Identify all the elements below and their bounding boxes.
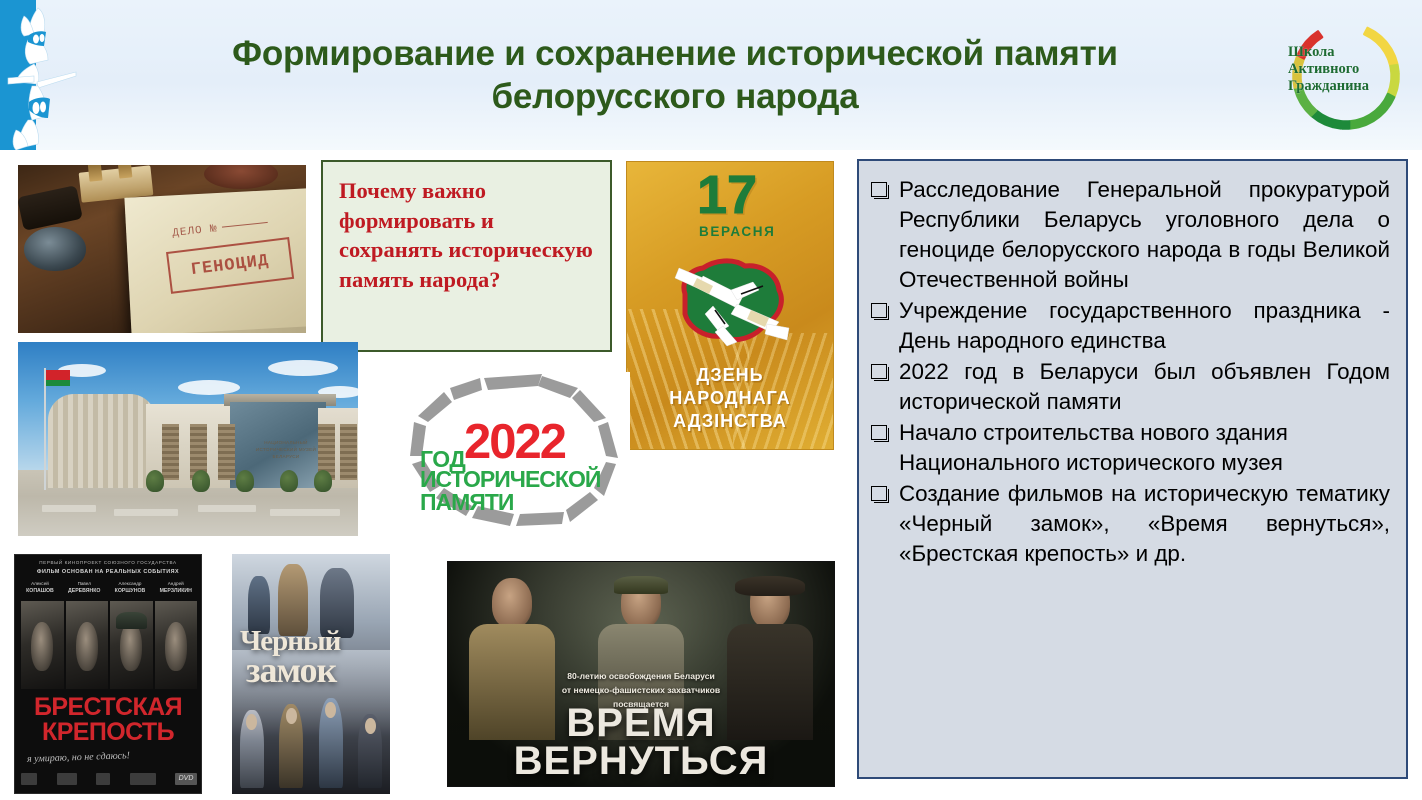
poster-faces <box>21 601 197 689</box>
list-item-text: Расследование Генеральной прокуратурой Р… <box>899 175 1390 295</box>
character-figure <box>240 710 264 788</box>
cloud <box>268 360 338 376</box>
logo-line-2: Активного <box>1288 61 1400 78</box>
tree <box>146 470 164 492</box>
black-castle-poster: Черный замок <box>232 554 390 794</box>
checkbox-bullet-icon <box>871 364 889 382</box>
year-2022-logo: 2022 ГОД ИСТОРИЧЕСКОЙ ПАМЯТИ <box>392 372 630 530</box>
poster-day-number: 17 <box>697 170 757 221</box>
school-active-citizen-logo: Школа Активного Гражданина <box>1280 6 1410 142</box>
logo-text: Школа Активного Гражданина <box>1288 44 1400 95</box>
lamp-shade-prop <box>24 227 86 271</box>
title-line-1: БРЕСТСКАЯ <box>15 695 201 720</box>
genocide-case-photo: ДЕЛО № ГЕНОЦИД <box>18 165 306 333</box>
studio-logo <box>130 773 156 785</box>
plaza-slab <box>198 505 256 512</box>
list-item: Начало строительства нового здания Нацио… <box>871 418 1390 478</box>
tree <box>280 470 298 492</box>
poster-title: ВРЕМЯ ВЕРНУТЬСЯ <box>448 704 834 781</box>
actor-credits: АлексейКОПАШОВ ПавелДЕРЕВЯНКО АлександрК… <box>19 581 199 596</box>
character-figure <box>279 704 303 788</box>
question-text: Почему важно формировать и сохранять ист… <box>339 176 596 295</box>
plaza-slab <box>114 509 178 516</box>
bottom-characters <box>232 702 390 788</box>
logo-line-1: Школа <box>1288 44 1400 61</box>
logo-line-3: Гражданина <box>1288 78 1400 95</box>
actor-credit: ПавелДЕРЕВЯНКО <box>68 581 100 596</box>
belarus-map-with-storks-icon <box>667 248 795 354</box>
flagpole <box>44 368 46 490</box>
face-with-cap <box>110 601 153 689</box>
year-number: 2022 <box>464 418 565 467</box>
list-item: Создание фильмов на историческую тематик… <box>871 479 1390 569</box>
plaza-slab <box>270 509 340 516</box>
title-line-1: ВРЕМЯ <box>448 704 834 742</box>
list-item-text: 2022 год в Беларуси был объявлен Годом и… <box>899 357 1390 417</box>
wide-hat-icon <box>735 576 805 596</box>
checkbox-bullet-icon <box>871 303 889 321</box>
actor-credit: АлександрКОРШУНОВ <box>115 581 146 596</box>
list-item: 2022 год в Беларуси был объявлен Годом и… <box>871 357 1390 417</box>
stork-icon <box>4 2 84 150</box>
caption-line-2: НАРОДНАГА <box>627 387 833 410</box>
time-to-return-poster: 80-летию освобождения Беларуси от немецк… <box>447 561 835 787</box>
poster-tagline-top: ПЕРВЫЙ КИНОПРОЕКТ СОЮЗНОГО ГОСУДАРСТВА <box>15 560 201 565</box>
studio-logo <box>57 773 77 785</box>
list-item-text: Создание фильмов на историческую тематик… <box>899 479 1390 569</box>
poster-handwritten-tagline: я умираю, но не сдаюсь! <box>27 748 191 765</box>
logo-word-historical: ИСТОРИЧЕСКОЙ <box>420 468 600 491</box>
tree <box>314 470 332 492</box>
poster-tagline-sub: ФИЛЬМ ОСНОВАН НА РЕАЛЬНЫХ СОБЫТИЯХ <box>15 569 201 575</box>
museum-wing-left <box>48 394 156 488</box>
relief-panel <box>162 424 179 480</box>
character-head <box>750 578 790 628</box>
list-item-text: Начало строительства нового здания Нацио… <box>899 418 1390 478</box>
caption-line-1: ДЗЕНЬ <box>627 364 833 387</box>
actor-credit: АлексейКОПАШОВ <box>26 581 54 596</box>
dedication-line-1: 80-летию освобождения Беларуси <box>448 670 834 684</box>
studio-logo <box>96 773 110 785</box>
logo-word-memory: ПАМЯТИ <box>420 491 600 514</box>
studio-logo <box>21 773 37 785</box>
page-title: Формирование и сохранение исторической п… <box>150 20 1200 132</box>
caption-line-3: АДЗІНСТВА <box>627 410 833 433</box>
poster-footer-logos: DVD <box>21 771 197 787</box>
poster-month-label: ВЕРАСНЯ <box>699 224 775 239</box>
unity-day-poster: 17 ВЕРАСНЯ ДЗЕНЬ НАРОДНАГА АДЗІНСТВА <box>626 161 834 450</box>
key-facts-panel: Расследование Генеральной прокуратурой Р… <box>857 159 1408 779</box>
tree <box>236 470 254 492</box>
face <box>66 601 109 689</box>
character-figure <box>319 698 343 788</box>
checkbox-bullet-icon <box>871 486 889 504</box>
relief-panel <box>218 424 235 480</box>
character-head <box>492 578 532 628</box>
face <box>21 601 64 689</box>
face <box>155 601 198 689</box>
plaza-slab <box>42 505 96 512</box>
question-callout-box: Почему важно формировать и сохранять ист… <box>321 160 612 352</box>
checkbox-bullet-icon <box>871 425 889 443</box>
cloud <box>178 380 240 395</box>
bullet-list: Расследование Генеральной прокуратурой Р… <box>871 175 1390 569</box>
case-folder: ДЕЛО № ГЕНОЦИД <box>124 188 306 333</box>
belarus-flag-icon <box>46 370 70 386</box>
tree <box>192 470 210 492</box>
poster-title: БРЕСТСКАЯ КРЕПОСТЬ <box>15 695 201 744</box>
list-item-text: Учреждение государственного праздника - … <box>899 296 1390 356</box>
genocide-stamp: ГЕНОЦИД <box>166 237 294 294</box>
poster-title: Черный замок <box>240 628 382 686</box>
list-item: Учреждение государственного праздника - … <box>871 296 1390 356</box>
actor-credit: АндрейМЕРЗЛИКИН <box>160 581 192 596</box>
cap-icon <box>614 576 668 594</box>
logo-words-memory: ИСТОРИЧЕСКОЙ ПАМЯТИ <box>420 468 600 515</box>
list-item: Расследование Генеральной прокуратурой Р… <box>871 175 1390 295</box>
title-line-2: КРЕПОСТЬ <box>15 720 201 745</box>
title-line-2: замок <box>246 654 382 686</box>
title-line-2: ВЕРНУТЬСЯ <box>448 742 834 780</box>
stamp-text: ГЕНОЦИД <box>190 251 270 279</box>
day-number: 17 <box>697 165 757 225</box>
case-number-label: ДЕЛО № <box>172 218 268 240</box>
relief-panel <box>340 424 357 480</box>
museum-sign-text: НАЦИОНАЛЬНЫЙ ИСТОРИЧЕСКИЙ МУЗЕЙ БЕЛАРУСИ <box>246 440 326 461</box>
slide-header: Формирование и сохранение исторической п… <box>0 0 1422 150</box>
poster-caption: ДЗЕНЬ НАРОДНАГА АДЗІНСТВА <box>627 364 833 433</box>
checkbox-bullet-icon <box>871 182 889 200</box>
character-figure <box>358 714 382 788</box>
dvd-badge: DVD <box>175 773 197 785</box>
character-head <box>621 578 661 628</box>
museum-building-render: НАЦИОНАЛЬНЫЙ ИСТОРИЧЕСКИЙ МУЗЕЙ БЕЛАРУСИ <box>18 342 358 536</box>
brest-fortress-poster: ПЕРВЫЙ КИНОПРОЕКТ СОЮЗНОГО ГОСУДАРСТВА Ф… <box>14 554 202 794</box>
dedication-line-2: от немецко-фашистских захватчиков <box>448 684 834 698</box>
